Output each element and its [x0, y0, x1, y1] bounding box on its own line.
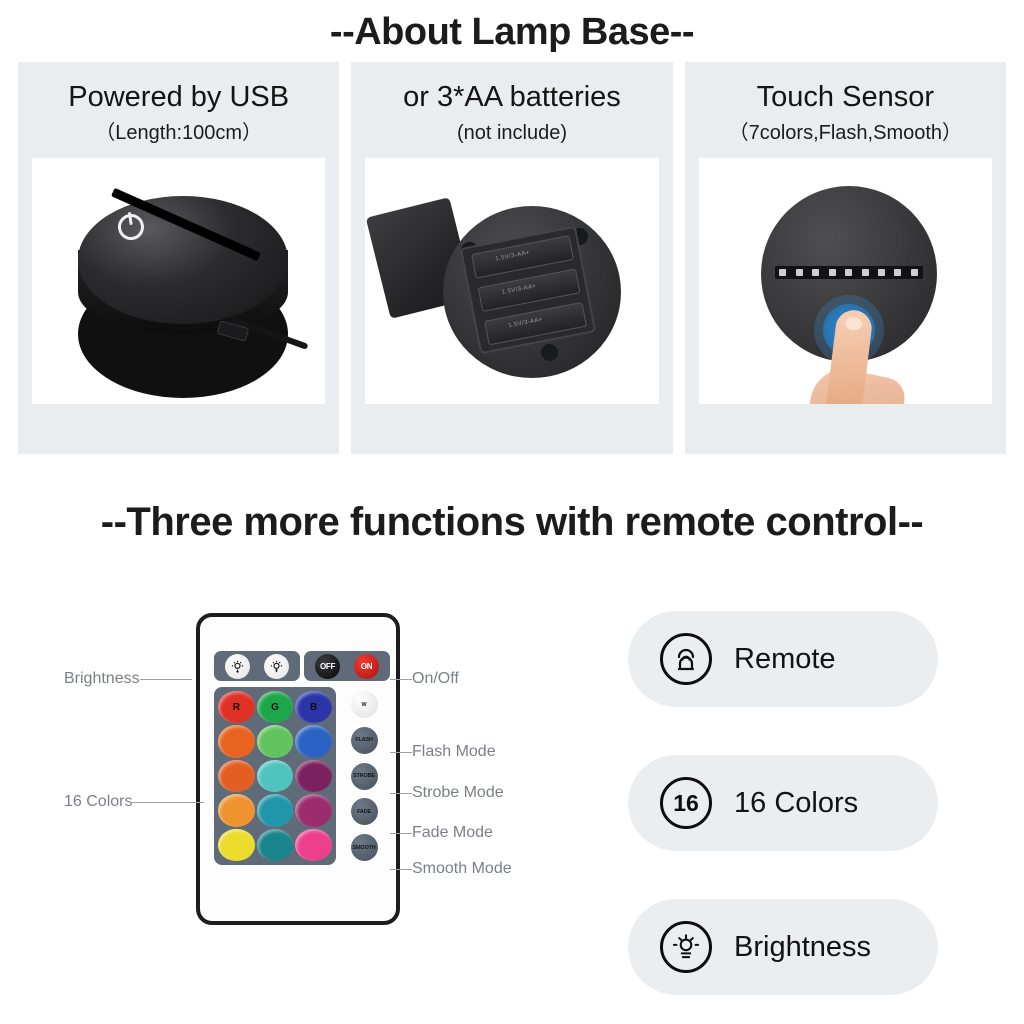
flash-mode-button[interactable]: FLASH	[351, 727, 378, 754]
usb-lamp-base-photo	[32, 158, 325, 404]
led-dot	[894, 269, 901, 276]
callout-label: Flash Mode	[412, 743, 496, 761]
page-title-remote-functions: --Three more functions with remote contr…	[0, 495, 1024, 549]
feature-pill-label: Brightness	[734, 931, 871, 964]
color-button-white[interactable]: W	[351, 691, 378, 718]
leader-line	[390, 833, 412, 834]
color-button-13[interactable]	[218, 829, 255, 861]
leader-line	[390, 752, 412, 753]
brightness-button-group	[214, 651, 300, 681]
led-strip	[775, 266, 923, 279]
led-dot	[911, 269, 918, 276]
callout-label: Brightness	[64, 670, 140, 688]
panel-title: or 3*AA batteries	[403, 78, 621, 116]
led-dot	[862, 269, 869, 276]
strobe-mode-button[interactable]: STROBE	[351, 763, 378, 790]
brightness-down-icon[interactable]	[264, 654, 289, 679]
page-title-about-lamp-base: --About Lamp Base--	[0, 0, 1024, 58]
remote-signal-icon	[660, 633, 712, 685]
battery-slot-label: 1.5V/3-AA+	[502, 283, 537, 296]
panel-subtitle: （Length:100cm）	[95, 118, 262, 148]
panel-powered-by-usb: Powered by USB （Length:100cm）	[18, 62, 339, 454]
color-button-7[interactable]	[218, 760, 255, 792]
callout-label: 16 Colors	[64, 793, 132, 811]
color-button-10[interactable]	[218, 794, 255, 826]
callout-brightness: Brightness	[64, 670, 192, 688]
color-button-8[interactable]	[257, 760, 294, 792]
touch-sensor-photo	[699, 158, 992, 404]
callout-16-colors: 16 Colors	[64, 793, 204, 811]
callout-label: Strobe Mode	[412, 784, 504, 802]
battery-compartment-photo: 1.5V/3-AA+ 1.5V/3-AA+ 1.5V/3-AA+	[365, 158, 658, 404]
color-button-b[interactable]: B	[295, 691, 332, 723]
color-button-11[interactable]	[257, 794, 294, 826]
led-dot	[796, 269, 803, 276]
panel-subtitle: (not include)	[457, 118, 567, 148]
callout-label: On/Off	[412, 670, 459, 688]
leader-line	[132, 802, 204, 803]
led-dot	[812, 269, 819, 276]
sixteen-badge-icon: 16	[660, 777, 712, 829]
color-button-grid: R G B	[214, 687, 336, 865]
feature-pill-label: 16 Colors	[734, 787, 858, 820]
sixteen-badge-text: 16	[673, 790, 699, 817]
battery-slot-label: 1.5V/3-AA+	[495, 250, 530, 263]
led-dot	[878, 269, 885, 276]
off-button[interactable]: OFF	[315, 654, 340, 679]
color-button-6[interactable]	[295, 725, 332, 757]
on-button[interactable]: ON	[354, 654, 379, 679]
callout-on-off: On/Off	[390, 670, 459, 688]
leader-line	[390, 869, 412, 870]
rubber-foot	[541, 344, 558, 361]
feature-pill-list: Remote 16 16 Colors Brightness	[628, 611, 938, 995]
fade-mode-button[interactable]: FADE	[351, 798, 378, 825]
feature-pill-brightness[interactable]: Brightness	[628, 899, 938, 995]
led-dot	[829, 269, 836, 276]
callout-flash-mode: Flash Mode	[390, 743, 496, 761]
callout-label: Fade Mode	[412, 824, 493, 842]
leader-line	[390, 793, 412, 794]
color-button-4[interactable]	[218, 725, 255, 757]
panel-title: Powered by USB	[68, 78, 289, 116]
color-button-g[interactable]: G	[257, 691, 294, 723]
lamp-base-panels: Powered by USB （Length:100cm） or 3*AA ba…	[18, 62, 1006, 454]
power-button-group: OFF ON	[304, 651, 390, 681]
battery-tray: 1.5V/3-AA+ 1.5V/3-AA+ 1.5V/3-AA+	[460, 226, 596, 355]
color-button-5[interactable]	[257, 725, 294, 757]
color-button-12[interactable]	[295, 794, 332, 826]
feature-pill-16-colors[interactable]: 16 16 Colors	[628, 755, 938, 851]
battery-slot-label: 1.5V/3-AA+	[508, 317, 543, 330]
panel-aa-batteries: or 3*AA batteries (not include) 1.5V/3-A…	[351, 62, 672, 454]
leader-line	[390, 679, 412, 680]
led-dot	[779, 269, 786, 276]
feature-pill-remote[interactable]: Remote	[628, 611, 938, 707]
callout-label: Smooth Mode	[412, 860, 512, 878]
color-button-r[interactable]: R	[218, 691, 255, 723]
brightness-up-icon[interactable]	[225, 654, 250, 679]
callout-smooth-mode: Smooth Mode	[390, 860, 512, 878]
callout-strobe-mode: Strobe Mode	[390, 784, 504, 802]
light-bulb-icon	[660, 921, 712, 973]
leader-line	[140, 679, 192, 680]
color-button-9[interactable]	[295, 760, 332, 792]
color-button-15[interactable]	[295, 829, 332, 861]
remote-top-row: OFF ON	[214, 651, 390, 681]
remote-control: OFF ON R G B W FLASH STROBE FADE SMOOTH	[196, 613, 400, 925]
callout-fade-mode: Fade Mode	[390, 824, 493, 842]
remote-mode-column: W FLASH STROBE FADE SMOOTH	[338, 687, 390, 865]
feature-pill-label: Remote	[734, 643, 836, 676]
led-dot	[845, 269, 852, 276]
panel-subtitle: （7colors,Flash,Smooth）	[729, 118, 962, 148]
panel-touch-sensor: Touch Sensor （7colors,Flash,Smooth）	[685, 62, 1006, 454]
panel-title: Touch Sensor	[757, 78, 934, 116]
color-button-14[interactable]	[257, 829, 294, 861]
smooth-mode-button[interactable]: SMOOTH	[351, 834, 378, 861]
